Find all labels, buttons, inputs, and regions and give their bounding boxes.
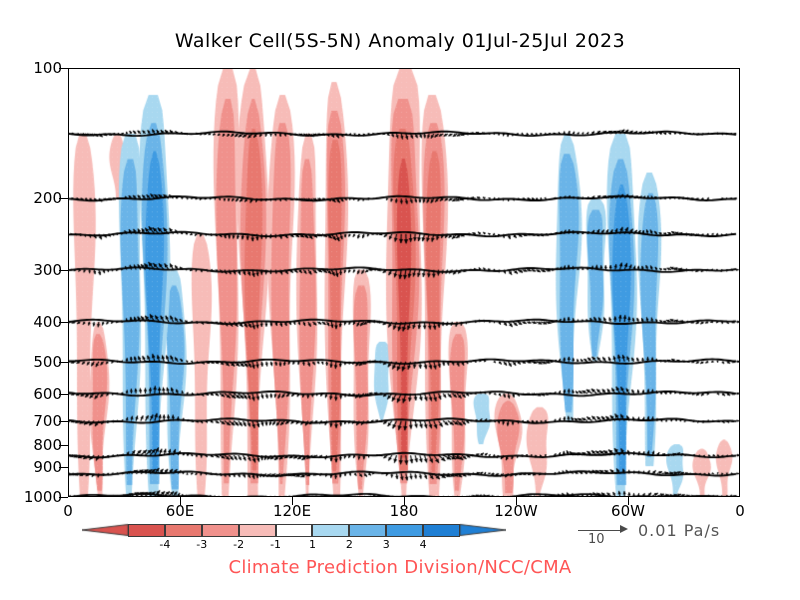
vector-key-units: 0.01 Pa/s bbox=[638, 521, 720, 540]
colorbar-extend-arrow bbox=[82, 520, 128, 540]
credit-line: Climate Prediction Division/NCC/CMA bbox=[0, 557, 800, 578]
colorbar-tick-label: 2 bbox=[346, 538, 353, 551]
colorbar-swatch bbox=[239, 524, 276, 537]
colorbar-swatch bbox=[276, 524, 313, 537]
colorbar-swatch bbox=[349, 524, 386, 537]
colorbar-tick-label: -1 bbox=[270, 538, 281, 551]
colorbar-swatch bbox=[165, 524, 202, 537]
vector-key-arrowhead-icon bbox=[620, 525, 628, 533]
colorbar-swatch bbox=[202, 524, 239, 537]
colorbar-legend: -4-3-2-11234 bbox=[0, 0, 800, 600]
colorbar-tick-label: 3 bbox=[383, 538, 390, 551]
vector-key-shaft bbox=[578, 530, 622, 531]
colorbar-tick-label: -2 bbox=[233, 538, 244, 551]
colorbar-tick-label: 4 bbox=[420, 538, 427, 551]
colorbar-extend-arrow bbox=[460, 520, 506, 540]
colorbar-tick-label: 1 bbox=[309, 538, 316, 551]
colorbar-swatch bbox=[128, 524, 165, 537]
chart-root: Walker Cell(5S-5N) Anomaly 01Jul-25Jul 2… bbox=[0, 0, 800, 600]
vector-key-magnitude: 10 bbox=[588, 532, 605, 547]
colorbar-swatch bbox=[312, 524, 349, 537]
colorbar-swatch bbox=[423, 524, 460, 537]
colorbar-tick-label: -3 bbox=[196, 538, 207, 551]
colorbar-tick-label: -4 bbox=[159, 538, 170, 551]
colorbar-swatch bbox=[386, 524, 423, 537]
